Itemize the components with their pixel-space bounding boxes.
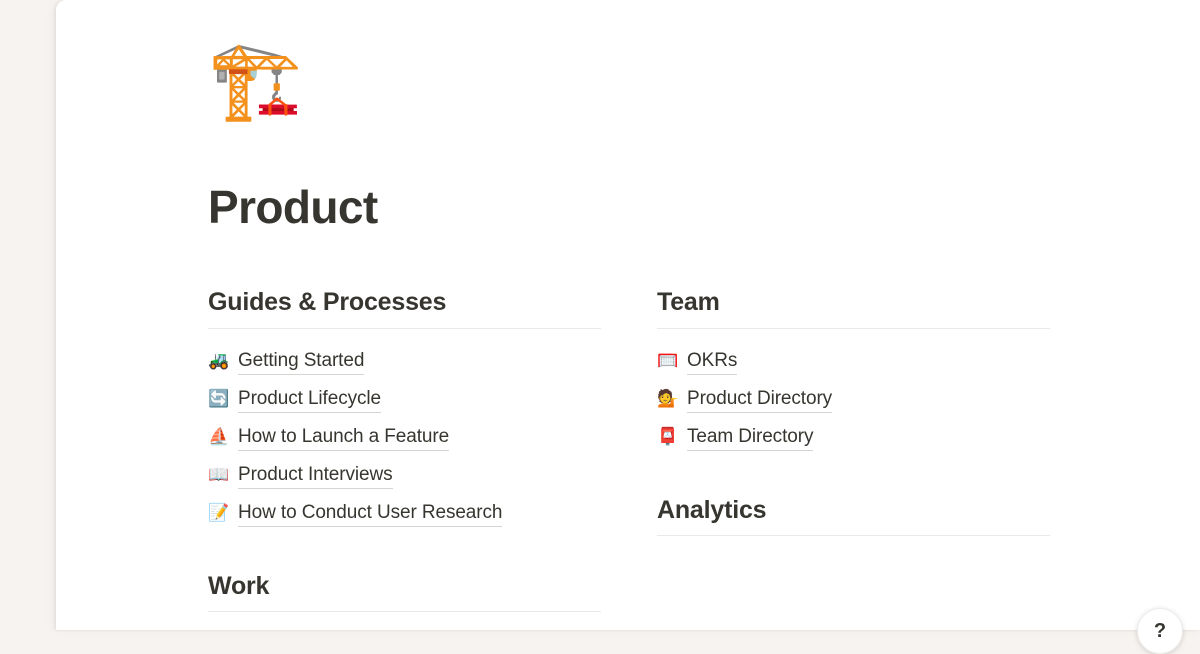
link-list-guides-and-processes: 🚜 Getting Started 🔄 Product Lifecycle ⛵ … <box>208 343 601 533</box>
link-product-lifecycle[interactable]: Product Lifecycle <box>238 386 381 414</box>
page-panel: 🏗️ Product Guides & Processes 🚜 Getting … <box>56 0 1200 630</box>
sailboat-icon: ⛵ <box>208 429 230 446</box>
section-work: Work <box>208 570 601 613</box>
section-divider <box>657 535 1050 536</box>
person-tipping-hand-icon: 💁 <box>657 391 679 408</box>
list-item[interactable]: 🥅 OKRs <box>657 343 1050 381</box>
goal-net-icon: 🥅 <box>657 353 679 370</box>
memo-icon: 📝 <box>208 505 230 522</box>
link-how-to-launch-a-feature[interactable]: How to Launch a Feature <box>238 424 449 452</box>
list-item[interactable]: 🚜 Getting Started <box>208 343 601 381</box>
section-analytics: Analytics <box>657 494 1050 537</box>
help-button[interactable]: ? <box>1137 608 1183 654</box>
postbox-icon: 📮 <box>657 429 679 446</box>
list-item[interactable]: 📮 Team Directory <box>657 419 1050 457</box>
link-product-directory[interactable]: Product Directory <box>687 386 832 414</box>
page-title: Product <box>208 181 378 234</box>
left-sidebar-rail <box>0 0 60 630</box>
list-item[interactable]: 📝 How to Conduct User Research <box>208 495 601 533</box>
page-content: 🏗️ Product Guides & Processes 🚜 Getting … <box>208 0 1108 630</box>
list-item[interactable]: 📖 Product Interviews <box>208 457 601 495</box>
list-item[interactable]: 🔄 Product Lifecycle <box>208 381 601 419</box>
list-item[interactable]: ⛵ How to Launch a Feature <box>208 419 601 457</box>
section-heading-team: Team <box>657 286 1050 328</box>
left-column: Guides & Processes 🚜 Getting Started 🔄 P… <box>208 286 601 626</box>
link-list-team: 🥅 OKRs 💁 Product Directory 📮 Team Direct… <box>657 343 1050 457</box>
section-heading-guides-and-processes: Guides & Processes <box>208 286 601 328</box>
counterclockwise-arrows-icon: 🔄 <box>208 391 230 408</box>
link-getting-started[interactable]: Getting Started <box>238 348 364 376</box>
tractor-icon: 🚜 <box>208 353 230 370</box>
list-item[interactable]: 💁 Product Directory <box>657 381 1050 419</box>
section-heading-work: Work <box>208 570 601 612</box>
section-divider <box>208 328 601 329</box>
section-divider <box>657 328 1050 329</box>
content-columns: Guides & Processes 🚜 Getting Started 🔄 P… <box>208 286 1050 626</box>
building-construction-crane-icon[interactable]: 🏗️ <box>208 42 303 118</box>
open-book-icon: 📖 <box>208 467 230 484</box>
right-column: Team 🥅 OKRs 💁 Product Directory 📮 <box>657 286 1050 626</box>
link-team-directory[interactable]: Team Directory <box>687 424 813 452</box>
section-guides-and-processes: Guides & Processes 🚜 Getting Started 🔄 P… <box>208 286 601 533</box>
link-okrs[interactable]: OKRs <box>687 348 737 376</box>
link-how-to-conduct-user-research[interactable]: How to Conduct User Research <box>238 500 502 528</box>
link-product-interviews[interactable]: Product Interviews <box>238 462 393 490</box>
section-heading-analytics: Analytics <box>657 494 1050 536</box>
section-team: Team 🥅 OKRs 💁 Product Directory 📮 <box>657 286 1050 457</box>
section-divider <box>208 611 601 612</box>
